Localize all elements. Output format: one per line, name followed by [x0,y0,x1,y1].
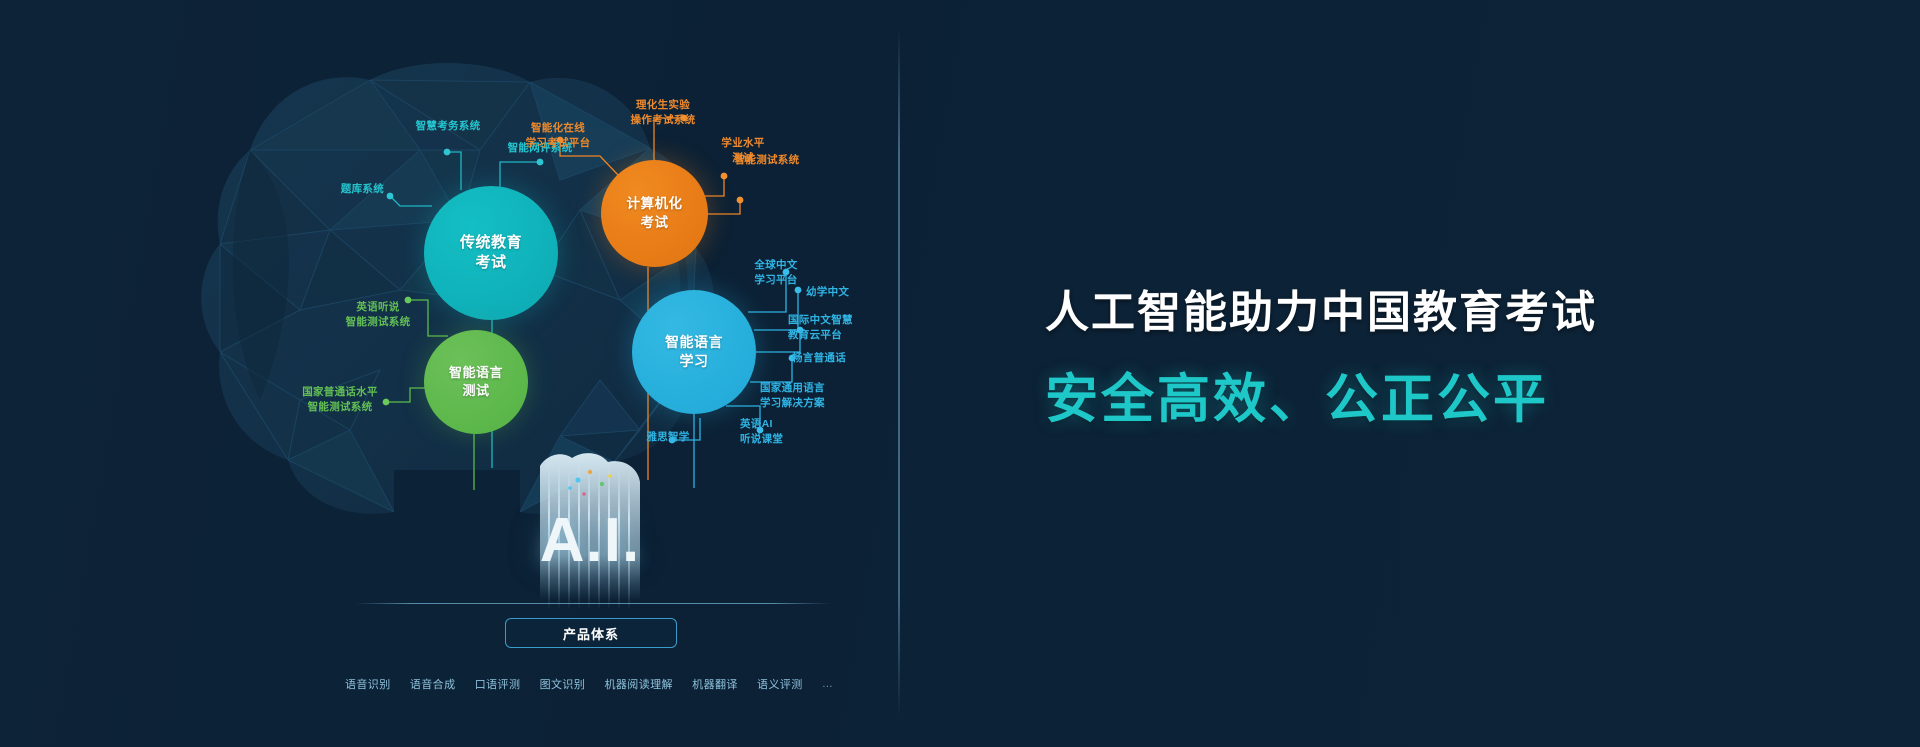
node-label: 智能语言 学习 [665,333,723,371]
hero-banner: A.I. 传统教育 考试 计算机化 考试 智能语言 学习 智能语言 测试 题库系… [0,0,1920,747]
node-label: 计算机化 考试 [627,195,683,231]
baseline-divider [355,603,830,604]
capability-item[interactable]: 机器翻译 [692,676,738,692]
leaf-english-listening-smart-test-system[interactable]: 英语听说 智能测试系统 [336,300,420,330]
leaf-national-putonghua-level-test-system[interactable]: 国家普通话水平 智能测试系统 [288,385,392,415]
ai-wordmark: A.I. [520,505,660,576]
capability-item[interactable]: 语义评测 [757,676,803,692]
capability-item[interactable]: 语音识别 [345,676,391,692]
leaf-ielts-smart-learning[interactable]: 雅思智学 [624,430,712,445]
leaf-youxue-chinese[interactable]: 幼学中文 [806,285,898,300]
leaf-science-lab-operation-exam[interactable]: 理化生实验 操作考试系统 [598,98,728,128]
capability-item[interactable]: 机器阅读理解 [605,676,673,692]
node-computerized-exam[interactable]: 计算机化 考试 [601,160,708,267]
node-smart-language-testing[interactable]: 智能语言 测试 [424,330,528,434]
leaf-smart-testing-system[interactable]: 智能测试系统 [712,153,822,168]
leaf-tiku-system[interactable]: 题库系统 [300,182,384,197]
leaf-international-chinese-cloud-platform[interactable]: 国际中文智慧 教育云平台 [788,313,898,343]
leaf-smart-exam-affairs[interactable]: 智慧考务系统 [378,119,518,134]
page-subtitle: 安全高效、公正公平 [1045,371,1745,429]
leaf-changyan-putonghua[interactable]: 畅言普通话 [792,351,892,366]
product-system-button[interactable]: 产品体系 [505,618,677,648]
node-label: 智能语言 测试 [449,364,503,399]
node-traditional-education-exam[interactable]: 传统教育 考试 [424,186,558,320]
capability-item[interactable]: 语音合成 [410,676,456,692]
capability-list: 语音识别 语音合成 口语评测 图文识别 机器阅读理解 机器翻译 语义评测 … [345,676,835,692]
capability-item[interactable]: 口语评测 [475,676,521,692]
capability-item[interactable]: 图文识别 [540,676,586,692]
capability-more-ellipsis[interactable]: … [822,678,835,690]
vertical-divider [898,28,900,718]
node-smart-language-learning[interactable]: 智能语言 学习 [632,290,756,414]
page-title: 人工智能助力中国教育考试 [1045,288,1745,337]
leaf-national-language-learning-solution[interactable]: 国家通用语言 学习解决方案 [760,381,870,411]
leaf-global-chinese-learning-platform[interactable]: 全球中文 学习平台 [730,258,822,288]
node-label: 传统教育 考试 [460,233,522,274]
hero-copy: 人工智能助力中国教育考试 安全高效、公正公平 [1045,288,1745,430]
brain-diagram-illustration: A.I. 传统教育 考试 计算机化 考试 智能语言 学习 智能语言 测试 题库系… [0,0,900,747]
leaf-english-ai-listening-class[interactable]: 英语AI 听说课堂 [740,417,820,447]
